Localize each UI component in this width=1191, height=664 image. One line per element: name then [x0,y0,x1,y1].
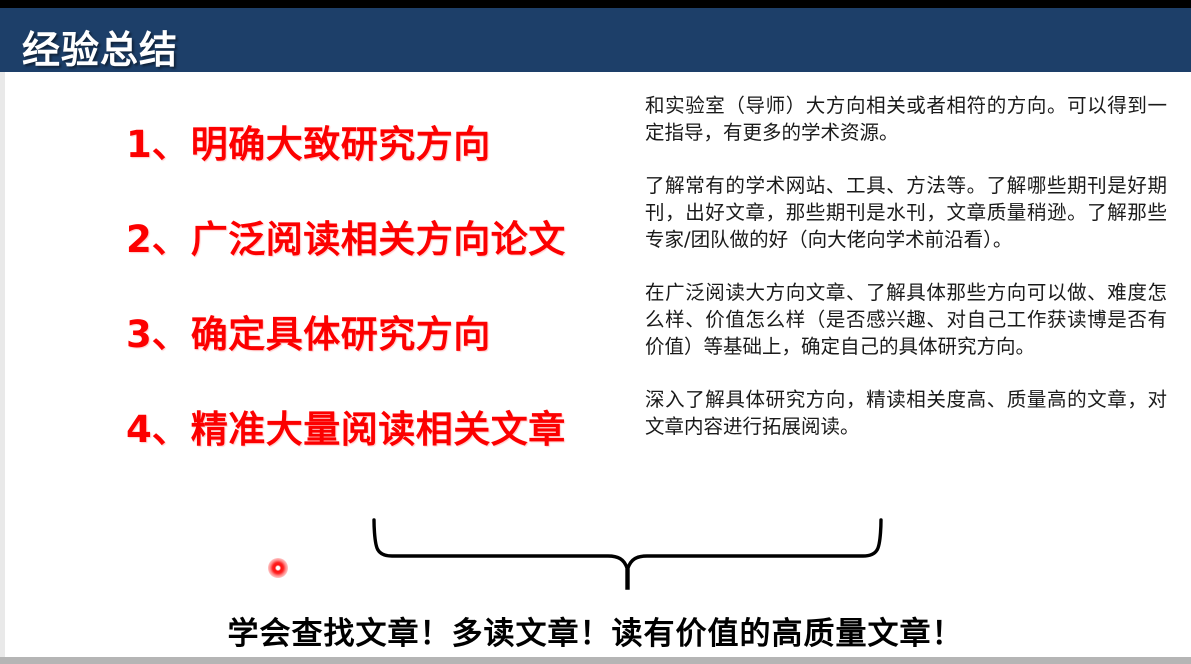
step-number-3: 3、 [126,316,189,353]
step-label-1: 明确大致研究方向 [191,126,491,163]
note-paragraph-3: 在广泛阅读大方向文章、了解具体那些方向可以做、难度怎么样、价值怎么样（是否感兴趣… [645,279,1167,360]
step-label-4: 精准大量阅读相关文章 [191,411,566,448]
conclusion-text: 学会查找文章！多读文章！读有价值的高质量文章！ [0,608,1191,653]
step-label-2: 广泛阅读相关方向论文 [191,221,566,258]
note-paragraph-1: 和实验室（导师）大方向相关或者相符的方向。可以得到一定指导，有更多的学术资源。 [645,92,1167,146]
step-item-3: 3、 确定具体研究方向 [126,316,626,411]
step-number-2: 2、 [126,221,189,258]
curly-brace-icon [370,518,885,590]
notes-column: 和实验室（导师）大方向相关或者相符的方向。可以得到一定指导，有更多的学术资源。 … [645,92,1167,440]
title-banner: 经验总结 [0,8,1191,72]
step-number-1: 1、 [126,126,189,163]
note-paragraph-2: 了解常有的学术网站、工具、方法等。了解哪些期刊是好期刊，出好文章，那些期刊是水刊… [645,172,1167,253]
step-item-1: 1、 明确大致研究方向 [126,126,626,221]
bottom-gray-bar [0,657,1191,664]
step-number-4: 4、 [126,411,189,448]
step-item-2: 2、 广泛阅读相关方向论文 [126,221,626,316]
top-black-strip [0,0,1191,8]
slide-canvas: 经验总结 1、 明确大致研究方向 2、 广泛阅读相关方向论文 3、 确定具体研究… [0,0,1191,664]
steps-list: 1、 明确大致研究方向 2、 广泛阅读相关方向论文 3、 确定具体研究方向 4、… [126,126,626,506]
page-title: 经验总结 [22,19,178,74]
laser-pointer-dot [268,558,288,578]
step-item-4: 4、 精准大量阅读相关文章 [126,411,626,506]
step-label-3: 确定具体研究方向 [191,316,491,353]
left-edge-border [0,72,5,657]
note-paragraph-4: 深入了解具体研究方向，精读相关度高、质量高的文章，对文章内容进行拓展阅读。 [645,386,1167,440]
